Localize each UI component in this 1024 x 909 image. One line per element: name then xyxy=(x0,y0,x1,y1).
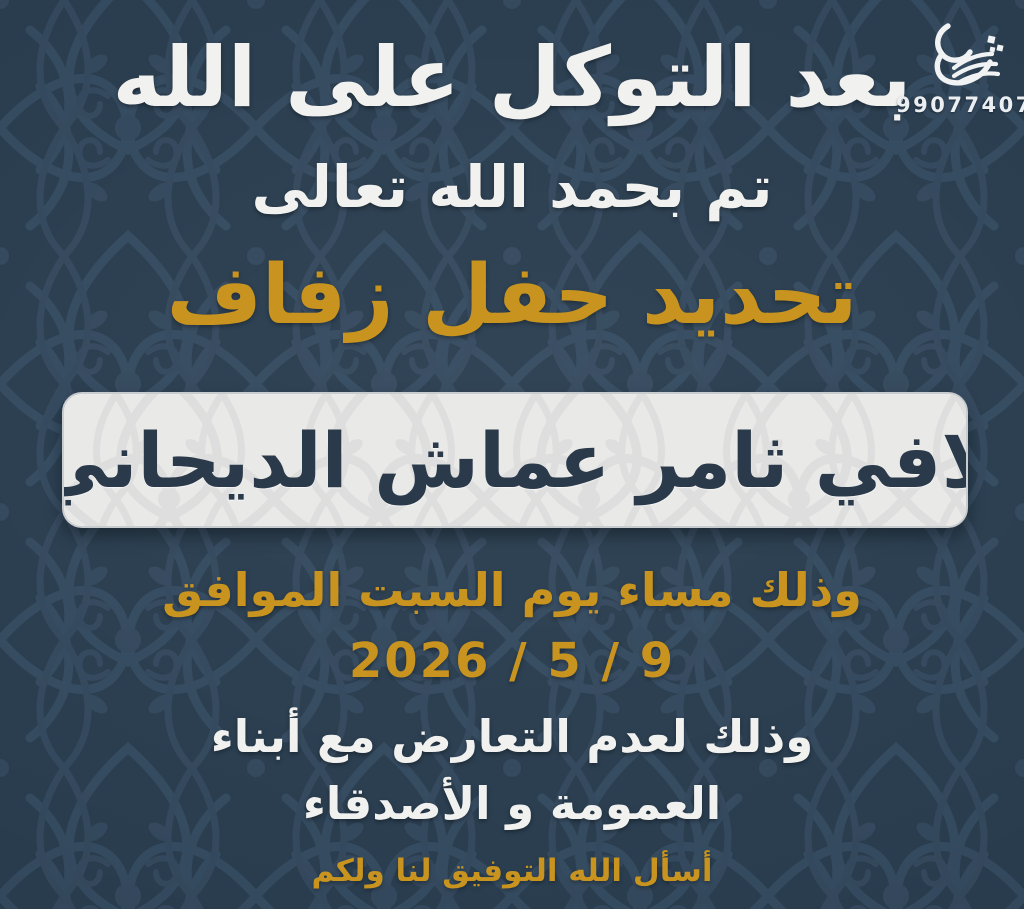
svg-text:CAPTURE: CAPTURE xyxy=(904,14,909,17)
logo-phone-number: 99077407 xyxy=(896,93,1016,117)
capture-calligraphy-icon: CAPTURE xyxy=(904,14,1008,92)
headline-line-1: بعد التوكل على الله xyxy=(0,36,1024,119)
note-line-2: العمومة و الأصدقاء xyxy=(0,781,1024,826)
headline-line-2: تم بحمد الله تعالى xyxy=(0,158,1024,216)
headline-gold-title: تحديد حفل زفاف xyxy=(0,255,1024,337)
brand-logo: CAPTURE 99077407 xyxy=(896,14,1016,118)
closing-dua: أسأل الله التوفيق لنا ولكم xyxy=(0,856,1024,887)
event-date-label: وذلك مساء يوم السبت الموافق xyxy=(0,567,1024,613)
card-content: CAPTURE 99077407 بعد xyxy=(0,0,1024,909)
wedding-announcement-card: CAPTURE 99077407 بعد xyxy=(0,0,1024,909)
event-date-value: 2026 / 5 / 9 xyxy=(0,637,1024,685)
groom-name: لافي ثامر عماش الديحاني xyxy=(62,416,968,505)
groom-name-plate: لافي ثامر عماش الديحاني xyxy=(62,392,968,528)
note-line-1: وذلك لعدم التعارض مع أبناء xyxy=(0,714,1024,759)
